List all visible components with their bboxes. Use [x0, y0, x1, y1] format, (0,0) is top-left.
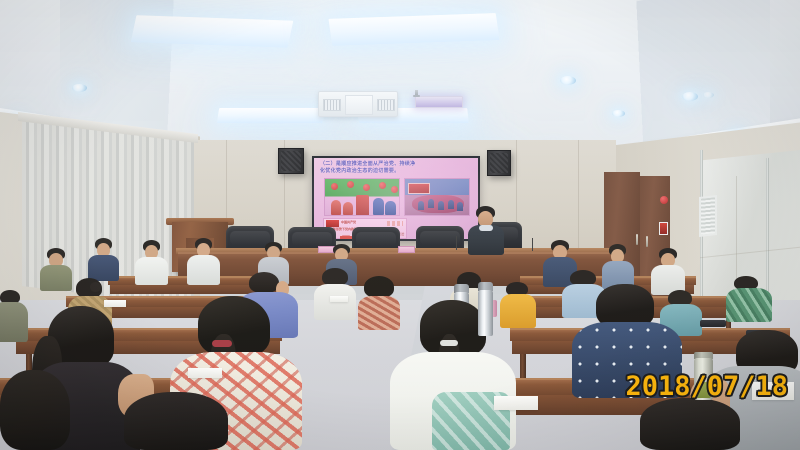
- meeting-banner: [408, 183, 430, 194]
- steel-thermos-front: [478, 290, 493, 336]
- notepad-front-center: [494, 396, 538, 410]
- torso: [135, 257, 168, 285]
- hair: [364, 276, 394, 298]
- door-handle-1[interactable]: [636, 234, 638, 245]
- figure-blue-2: [385, 201, 396, 215]
- slide-heading: （二）是顺应推进全面从严治党、持续净 化优化党内政治生态的迫切需要。: [320, 161, 472, 175]
- meeting-figure: [438, 201, 444, 210]
- speaker-mesh: [490, 153, 508, 173]
- meeting-figure: [428, 199, 434, 208]
- hair: [640, 398, 740, 450]
- downlight-13: [682, 92, 698, 101]
- hair: [124, 392, 228, 450]
- downlight-10: [612, 110, 625, 117]
- hair-tie: [212, 340, 232, 347]
- apple-icon: [391, 186, 398, 193]
- notepad-front-left: [188, 368, 222, 378]
- torso: [500, 294, 536, 328]
- notepad-mid: [104, 300, 126, 307]
- figure-red-1: [331, 200, 341, 215]
- downlight-9: [560, 76, 576, 85]
- camera-date-stamp: 2018/07/18: [625, 371, 788, 402]
- slide-heading-line2: 化优化党内政治生态的迫切需要。: [320, 168, 472, 175]
- torso: [187, 255, 220, 285]
- wall-speaker-left: [278, 148, 304, 174]
- speaker-mesh: [281, 151, 301, 171]
- meeting-figure: [418, 201, 424, 210]
- mobile-phone-right[interactable]: [700, 320, 726, 327]
- downlight-1: [72, 84, 87, 92]
- wall-air-vent: [699, 195, 717, 237]
- figure-red-2: [343, 202, 353, 215]
- table-nameplate-2: [398, 246, 415, 253]
- doc-card-badge: [387, 221, 403, 226]
- hair: [0, 370, 70, 450]
- tree-trunk: [356, 195, 369, 216]
- torso: [40, 265, 72, 291]
- ac-grille-left: [323, 99, 341, 111]
- led-panel-3: [217, 108, 325, 123]
- ac-center-panel: [345, 95, 373, 115]
- meeting-figure: [448, 200, 454, 209]
- apple-icon: [363, 184, 370, 191]
- torso: [0, 302, 28, 342]
- microphone-stand-1: [456, 236, 457, 250]
- microphone-stand-2: [532, 238, 533, 251]
- notepad-mid2: [330, 296, 348, 302]
- apple-icon: [331, 183, 338, 190]
- fire-call-point[interactable]: [659, 222, 668, 235]
- presenter-collar: [479, 225, 493, 231]
- figure-blue-1: [373, 198, 384, 215]
- ac-grille-right: [377, 99, 395, 111]
- hair-bun-knot: [90, 282, 101, 292]
- slide-illustration-left: [324, 178, 400, 216]
- wall-speaker-right: [487, 150, 511, 176]
- party-flag-icon: [326, 220, 339, 227]
- door-handle-2[interactable]: [646, 236, 648, 247]
- torso: [358, 296, 400, 330]
- torso: [88, 255, 119, 281]
- torso: [314, 284, 356, 320]
- hair-tie: [440, 340, 458, 346]
- fire-alarm-bell: [660, 196, 668, 204]
- doc-card-title: 中国共产党: [341, 220, 356, 224]
- sprinkler-head-1: [415, 90, 418, 97]
- apple-icon: [379, 182, 386, 189]
- led-panel-1: [131, 15, 294, 48]
- torso: [726, 288, 772, 322]
- slide-heading-line1: （二）是顺应推进全面从严治党、持续净: [320, 161, 472, 168]
- hair: [249, 272, 279, 293]
- conference-room-photo: （二）是顺应推进全面从严治党、持续净 化优化党内政治生态的迫切需要。: [0, 0, 800, 450]
- meeting-figure: [457, 202, 463, 211]
- apple-icon: [347, 181, 354, 188]
- ac-light-panel: [415, 96, 463, 108]
- cassette-ac-unit: [318, 91, 398, 117]
- slide-illustration-right: [404, 178, 470, 216]
- downlight-17: [703, 92, 714, 98]
